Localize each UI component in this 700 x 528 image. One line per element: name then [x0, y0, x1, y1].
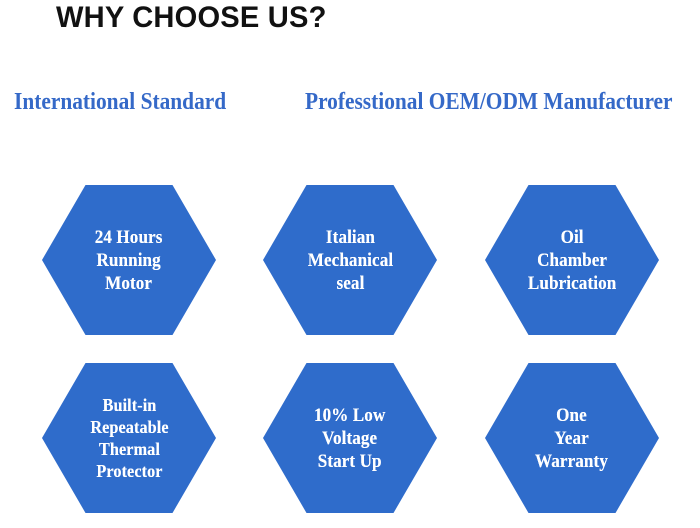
hexagon-label: Built-in Repeatable Thermal Protector: [84, 394, 173, 482]
hexagon-label: 24 Hours Running Motor: [90, 226, 169, 295]
slide-canvas: WHY CHOOSE US? International Standard Pr…: [0, 0, 700, 528]
subheading-international-standard: International Standard: [14, 88, 226, 115]
hexagon-built-in-repeatable-thermal-protector[interactable]: Built-in Repeatable Thermal Protector: [42, 363, 216, 513]
hexagon-grid: 24 Hours Running Motor Italian Mechanica…: [0, 0, 700, 528]
hexagon-24-hours-running-motor[interactable]: 24 Hours Running Motor: [42, 185, 216, 335]
page-title: WHY CHOOSE US?: [56, 1, 327, 35]
hexagon-italian-mechanical-seal[interactable]: Italian Mechanical seal: [263, 185, 437, 335]
hexagon-label: 10% Low Voltage Start Up: [309, 404, 391, 473]
subheading-oem-odm-manufacturer: Professtional OEM/ODM Manufacturer: [305, 88, 673, 115]
hexagon-10-percent-low-voltage-start-up[interactable]: 10% Low Voltage Start Up: [263, 363, 437, 513]
hexagon-label: Oil Chamber Lubrication: [522, 226, 621, 295]
hexagon-oil-chamber-lubrication[interactable]: Oil Chamber Lubrication: [485, 185, 659, 335]
hexagon-one-year-warranty[interactable]: One Year Warranty: [485, 363, 659, 513]
hexagon-label: One Year Warranty: [530, 404, 614, 473]
hexagon-label: Italian Mechanical seal: [302, 226, 398, 295]
